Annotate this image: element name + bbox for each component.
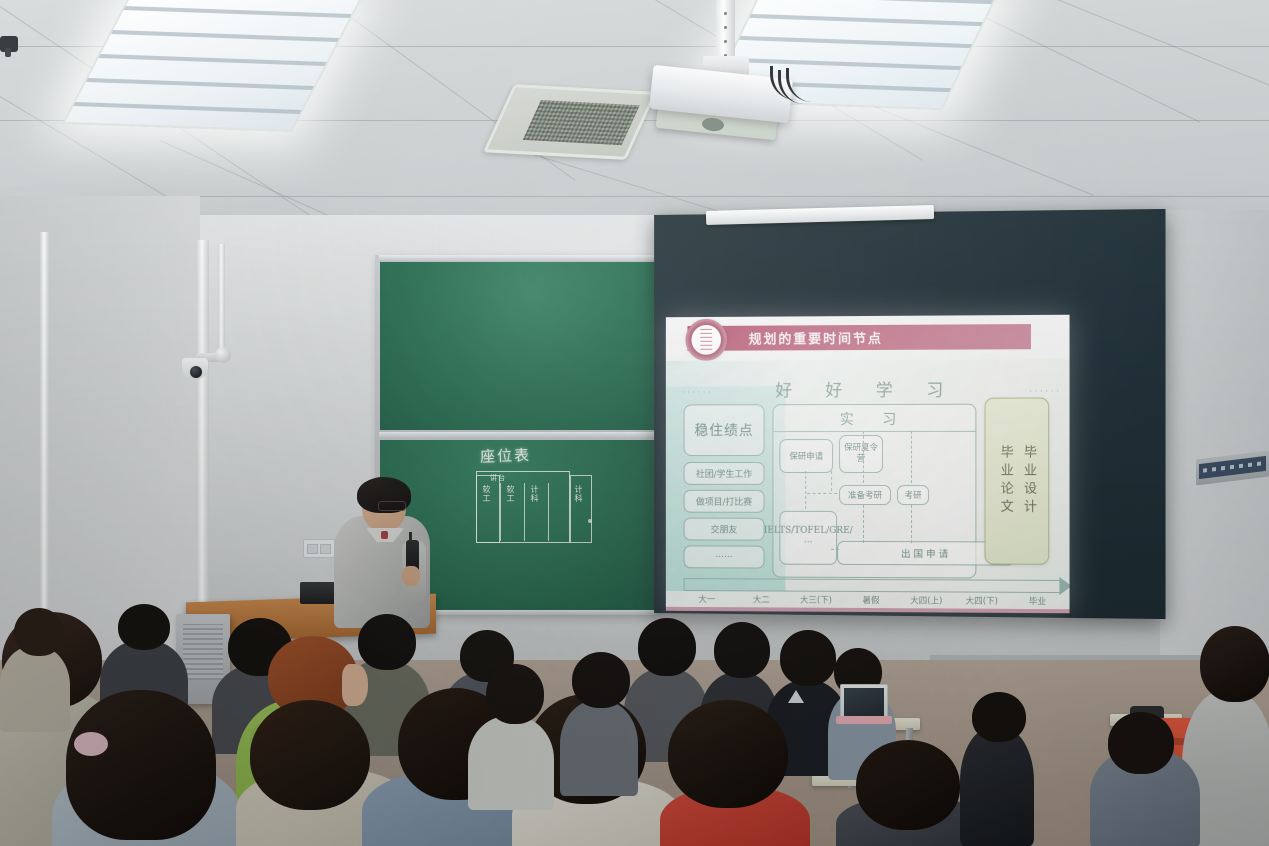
presentation-slide: 规划的重要时间节点 ······ 好 好 学 习 ······ 稳住绩点 社团/… — [666, 315, 1070, 614]
camera-joint — [215, 347, 231, 363]
grad-col-2: 毕业设计 — [1019, 445, 1038, 518]
mid-box-baoyan-apply: 保研申请 — [779, 439, 833, 473]
audience-member — [560, 700, 638, 796]
grad-col-1: 毕业论文 — [996, 445, 1015, 517]
wall-conduit — [196, 240, 209, 660]
audience-head — [668, 700, 788, 808]
left-box-etc: ······ — [684, 545, 765, 568]
seat-col-2: 计科 — [530, 485, 538, 503]
audience-head — [780, 630, 836, 686]
seating-chart-title: 座位表 — [480, 444, 532, 467]
audience-head — [856, 740, 960, 830]
chalkboard-writing: 座位表 讲台 软工 软工 计科 计科 — [470, 445, 620, 555]
ceiling-ac-vent — [483, 84, 657, 160]
slide-title: 规划的重要时间节点 — [749, 328, 883, 348]
internship-label: 实 习 — [773, 409, 975, 429]
seat-col-3: 计科 — [574, 485, 582, 503]
slide-header: 规划的重要时间节点 — [666, 315, 1070, 361]
audience-head — [638, 618, 696, 676]
audience-head — [714, 622, 770, 678]
security-camera-lens — [190, 366, 202, 378]
presenter-hand — [402, 566, 420, 586]
audience-head — [1108, 712, 1174, 774]
audience-head — [486, 664, 544, 724]
mid-box-baoyan-camp: 保研夏令营 — [839, 435, 883, 473]
mid-box-prep-exam: 准备考研 — [839, 485, 891, 505]
audience-head — [118, 604, 170, 650]
slide-title-bar: 规划的重要时间节点 — [688, 324, 1031, 351]
seat-col-1: 软工 — [506, 485, 514, 503]
timeline-arrow — [684, 578, 1062, 593]
audience-head-ponytail — [66, 690, 216, 840]
audience-head — [572, 652, 630, 708]
left-box-gpa: 稳住绩点 — [684, 404, 765, 456]
audience-head — [1200, 626, 1269, 702]
audience-head — [358, 614, 416, 670]
left-box-friends: 交朋友 — [684, 518, 765, 541]
slide-left-column: 稳住绩点 社团/学生工作 做项目/打比赛 交朋友 ······ — [684, 404, 765, 577]
camera-conduit — [218, 244, 225, 349]
wall-conduit — [40, 232, 49, 652]
university-seal-logo — [686, 319, 727, 361]
right-wall — [1160, 210, 1269, 690]
left-box-project: 做项目/打比赛 — [684, 490, 765, 513]
mid-box-language-test: IELTS/TOFEL/GRE/··· — [779, 511, 837, 565]
slide-dots-right: ······ — [1029, 385, 1061, 396]
left-wall — [0, 196, 200, 666]
left-box-club: 社团/学生工作 — [684, 462, 765, 485]
slide-body: ······ 好 好 学 习 ······ 稳住绩点 社团/学生工作 做项目/打… — [666, 359, 1070, 613]
audience-member — [0, 646, 70, 732]
mid-box-exam: 考研 — [897, 485, 929, 505]
audience-head — [250, 700, 370, 810]
hair-tie — [74, 732, 108, 756]
audience-member — [468, 716, 554, 810]
lecture-hall-photo: 座位表 讲台 软工 软工 计科 计科 规划的重要时间节点 ······ 好 好 … — [0, 0, 1269, 846]
audience-head — [14, 608, 64, 656]
audience-head — [972, 692, 1026, 742]
projector-cables — [770, 66, 830, 116]
sprinkler-head — [0, 36, 18, 52]
face-profile — [342, 664, 368, 706]
seat-col-0: 软工 — [482, 485, 490, 503]
wall-power-outlet[interactable] — [303, 539, 335, 558]
laptop-base — [836, 716, 892, 724]
chalkboard-upper — [380, 262, 656, 430]
presenter-lanyard — [381, 531, 388, 539]
presenter-glasses — [378, 501, 406, 511]
slide-internship-area: 实 习 保研申请 保研夏令营 准备考研 考研 IELTS/TOFEL/GRE/·… — [772, 404, 976, 579]
audience-member — [960, 726, 1034, 846]
graduation-thesis-box: 毕业论文 毕业设计 — [984, 397, 1049, 564]
